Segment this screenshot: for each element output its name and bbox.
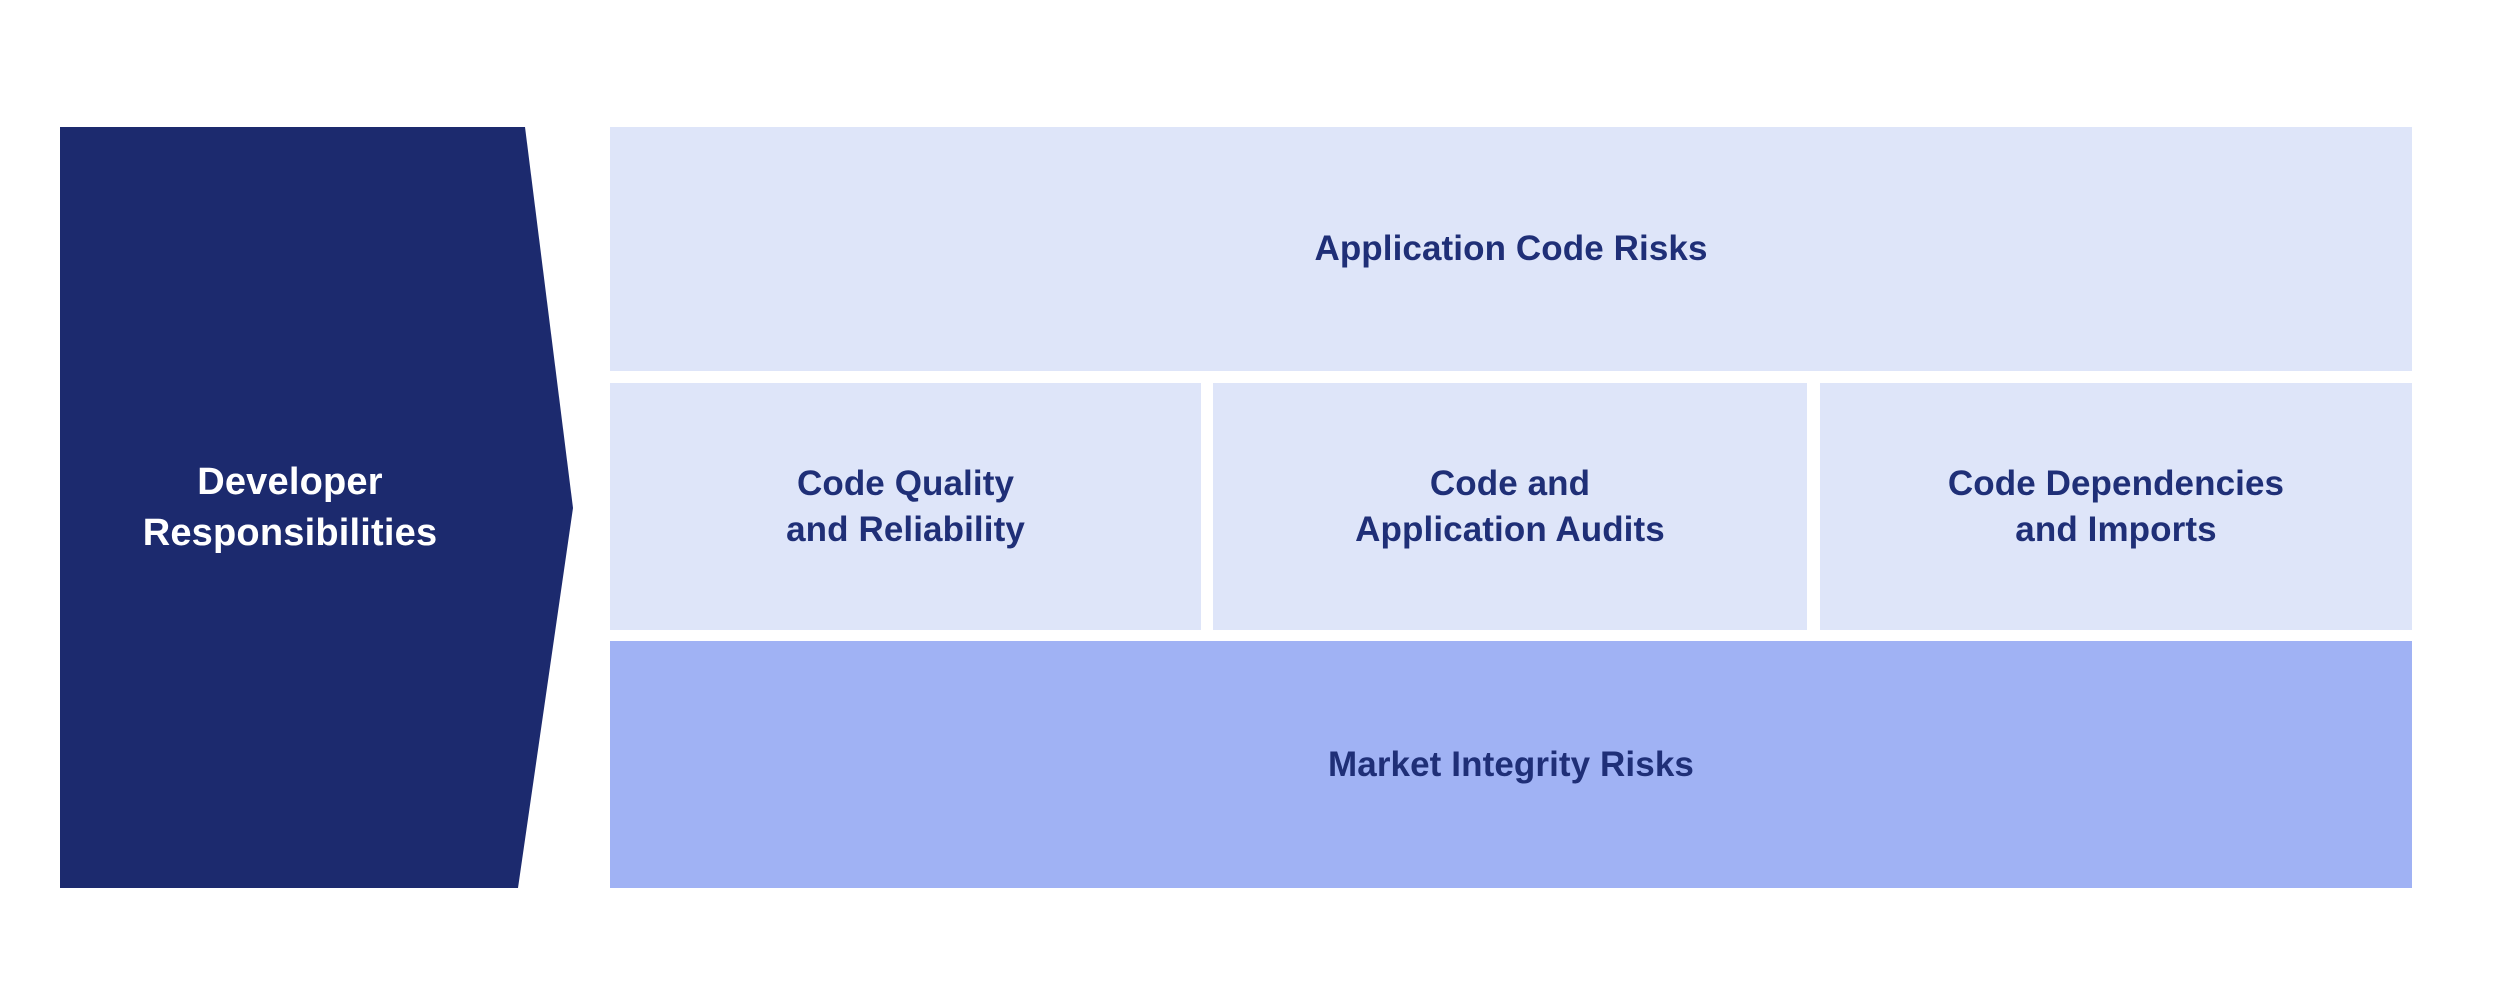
pentagon-arrow-icon xyxy=(60,127,573,888)
group-header-application-code-risks[interactable]: Application Code Risks xyxy=(610,127,2412,371)
developer-responsibilities-callout-shape xyxy=(60,127,573,888)
item-code-and-application-audits[interactable]: Code and Application Audits xyxy=(1213,383,1807,630)
diagram-canvas: Developer Responsibilities Application C… xyxy=(0,0,2500,996)
group-header-market-integrity-risks[interactable]: Market Integrity Risks xyxy=(610,641,2412,888)
item-code-dependencies-and-imports[interactable]: Code Dependencies and Imports xyxy=(1820,383,2412,630)
risk-group-stack: Application Code Risks Code Quality and … xyxy=(610,127,2412,888)
item-code-quality-and-reliability[interactable]: Code Quality and Reliability xyxy=(610,383,1201,630)
